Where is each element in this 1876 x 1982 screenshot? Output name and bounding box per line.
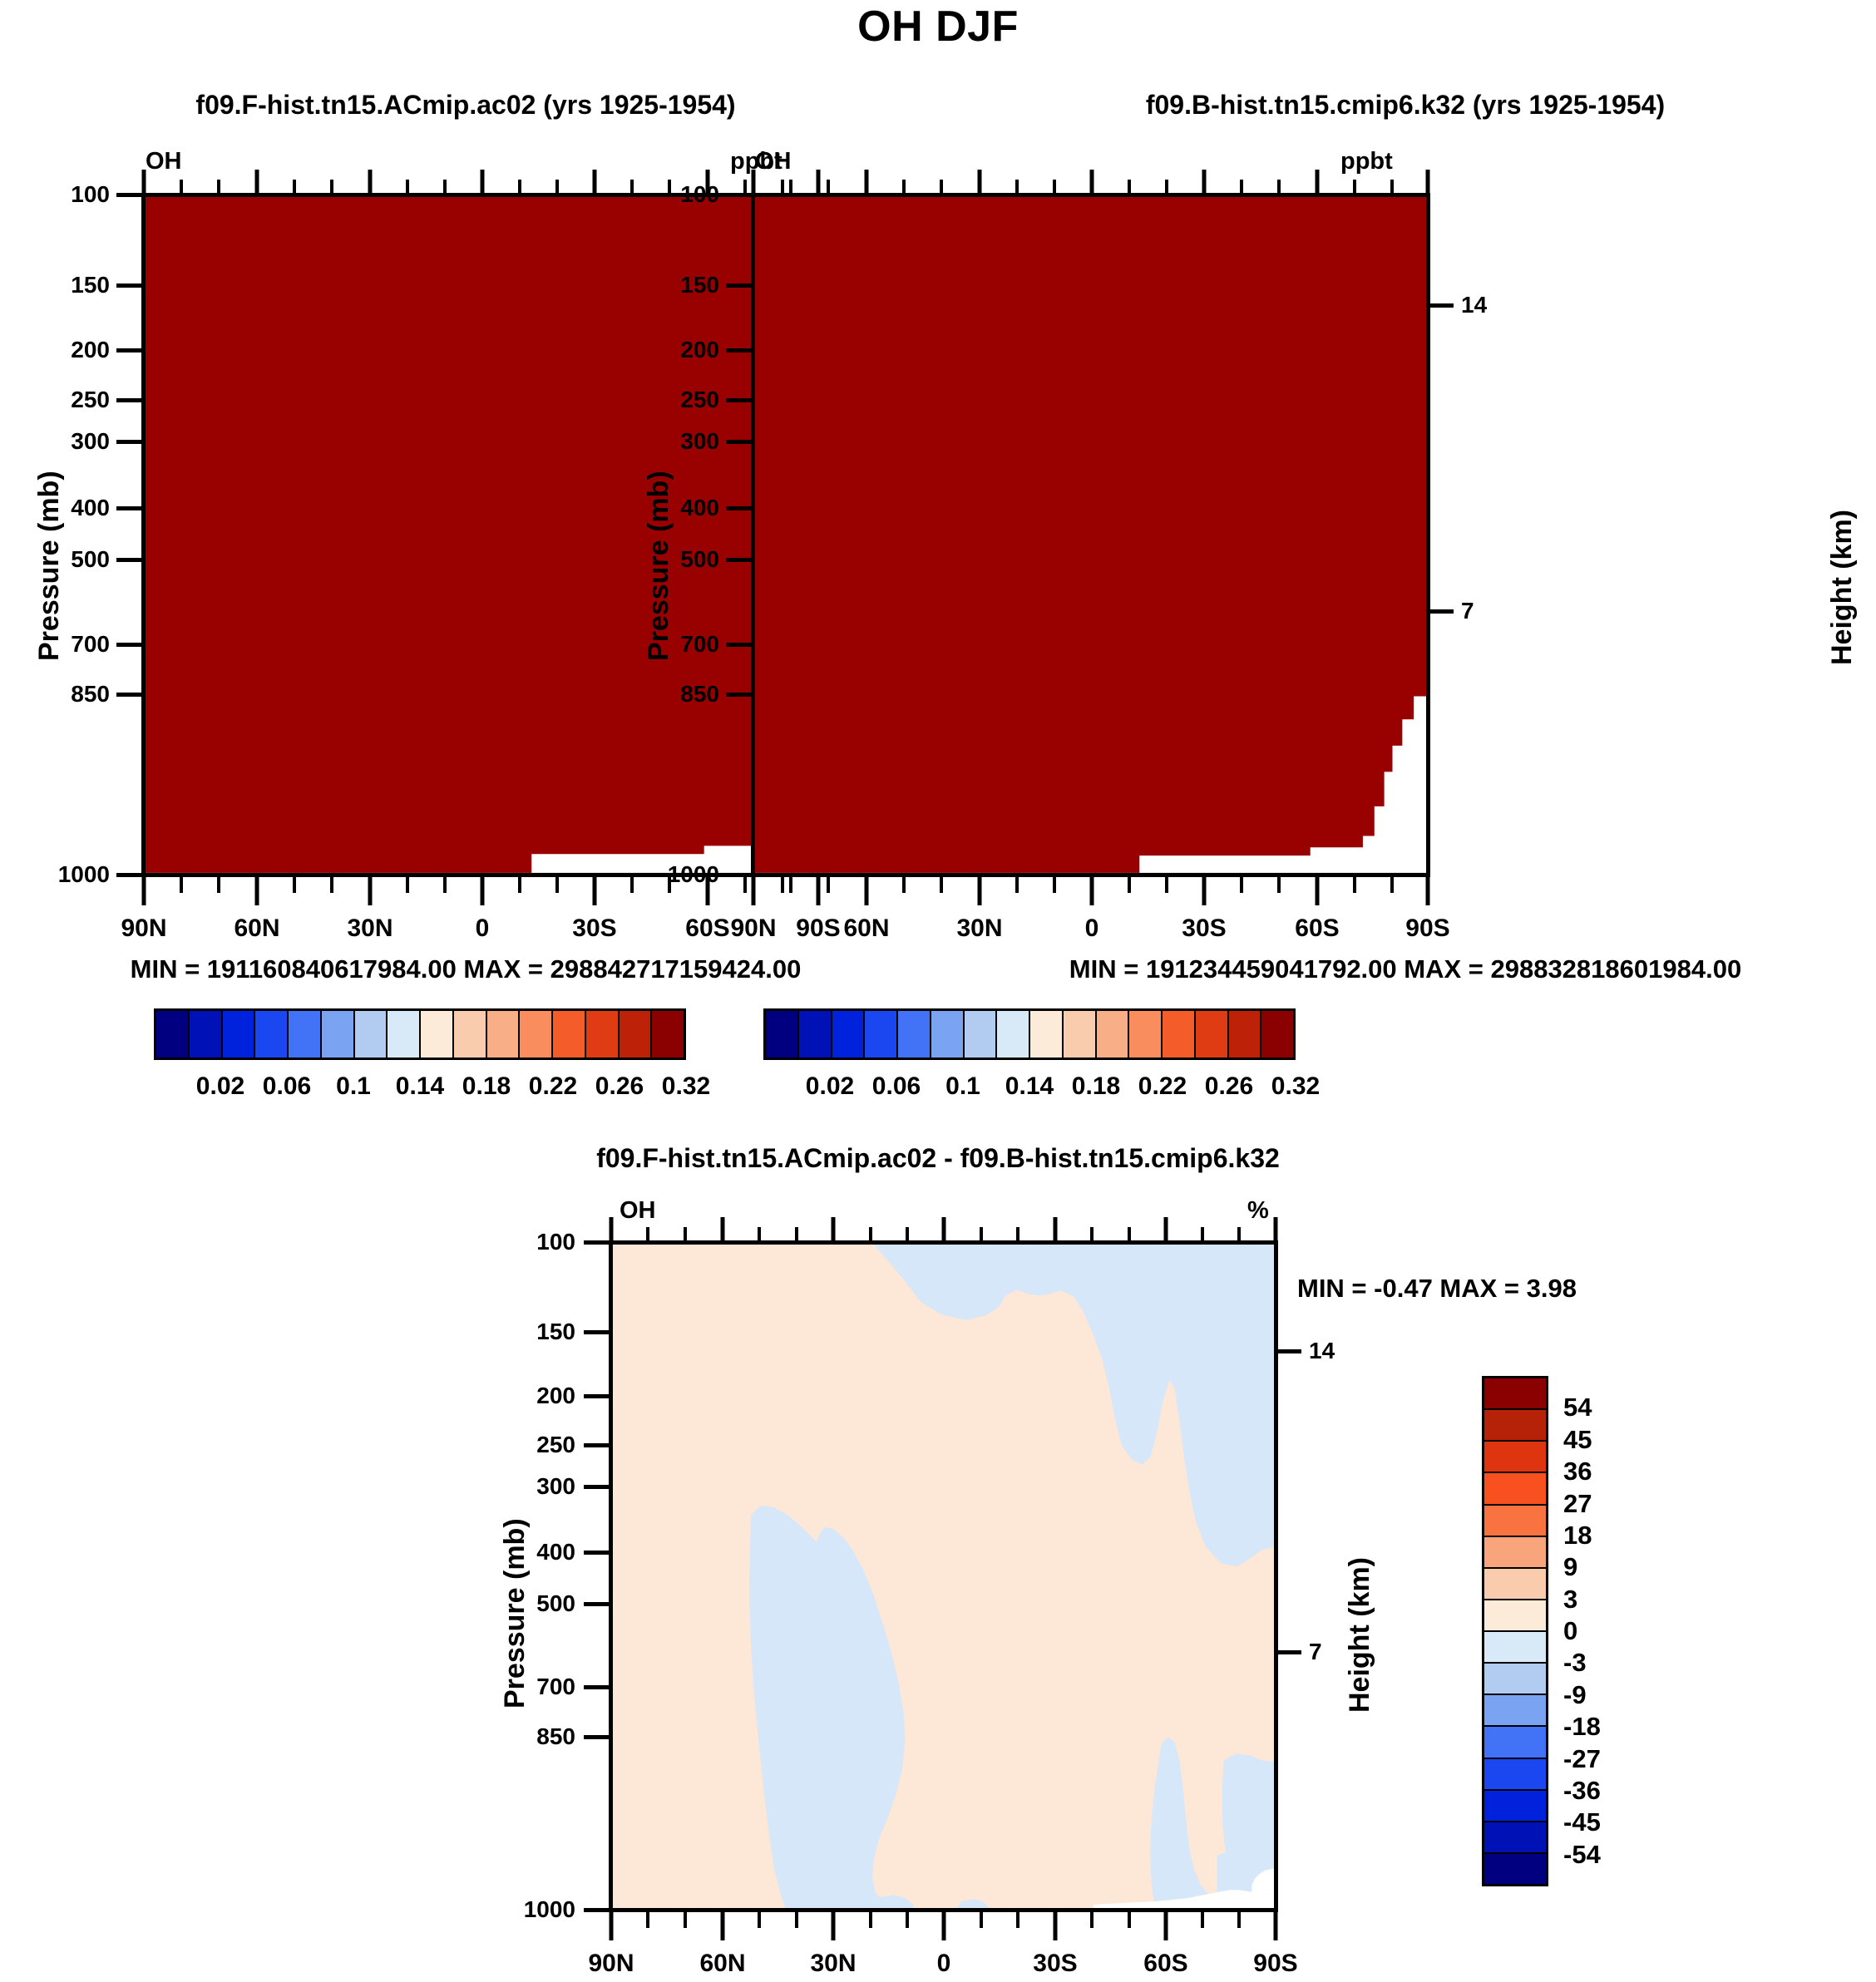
ytick-label: 250: [17, 387, 110, 413]
xtick-label: 30S: [1146, 915, 1262, 943]
xtick-label: 30N: [312, 915, 428, 943]
bottom-axis-ticks-difference: [609, 1911, 1278, 1945]
xtick-label: 0: [424, 915, 541, 943]
colorbar-labels-top-left: 0.020.060.10.140.180.220.260.32: [154, 1072, 686, 1107]
top-axis-ticks-top-right: [751, 163, 1430, 196]
colorbar-cell: [865, 1011, 898, 1058]
xtick-label: 0: [886, 1950, 1002, 1978]
colorbar-cell: [520, 1011, 553, 1058]
colorbar-cell: [1484, 1410, 1546, 1442]
colorbar-cell: [1484, 1569, 1546, 1600]
colorbar-tick-label: 0.32: [1271, 1072, 1320, 1101]
xtick-label: 60S: [1108, 1950, 1224, 1978]
colorbar-tick-label: 0.02: [806, 1072, 854, 1101]
colorbar-tick-label: 0.18: [1072, 1072, 1120, 1101]
colorbar-cell: [652, 1011, 684, 1058]
ytick-label: 1000: [472, 1896, 575, 1923]
colorbar-difference[interactable]: [1482, 1376, 1548, 1886]
y2axis-title-difference: Height (km): [1344, 1557, 1376, 1713]
colorbar-tick-label: 0.1: [336, 1072, 371, 1101]
colorbar-cell: [1484, 1791, 1546, 1822]
colorbar-top-right[interactable]: [763, 1008, 1296, 1060]
xtick-label: 60N: [664, 1950, 781, 1978]
colorbar-tick-label: 0.26: [1205, 1072, 1253, 1101]
colorbar-cell: [156, 1011, 190, 1058]
colorbar-cell: [799, 1011, 832, 1058]
colorbar-tick-label: -45: [1563, 1807, 1601, 1837]
colorbar-cell: [1097, 1011, 1130, 1058]
plot-area-top-right[interactable]: [751, 193, 1430, 877]
colorbar-tick-label: 0.22: [529, 1072, 577, 1101]
y2tick-label: 14: [1309, 1338, 1335, 1364]
colorbar-labels-top-right: 0.020.060.10.140.180.220.260.32: [763, 1072, 1296, 1107]
xtick-label: 30S: [536, 915, 653, 943]
colorbar-tick-label: 0.22: [1138, 1072, 1187, 1101]
ytick-label: 300: [17, 428, 110, 455]
ytick-label: 100: [17, 181, 110, 208]
heatmap-fill-difference: [613, 1245, 1274, 1908]
colorbar-tick-label: 0: [1563, 1616, 1577, 1646]
colorbar-cell: [223, 1011, 256, 1058]
colorbar-cell: [766, 1011, 799, 1058]
ytick-label: 150: [482, 1319, 575, 1345]
xtick-label: 90N: [86, 915, 202, 943]
ytick-label: 850: [626, 681, 719, 708]
colorbar-cell: [1484, 1506, 1546, 1537]
colorbar-tick-label: 0.14: [396, 1072, 444, 1101]
colorbar-tick-label: 0.32: [662, 1072, 710, 1101]
colorbar-tick-label: 36: [1563, 1457, 1592, 1486]
colorbar-cell: [997, 1011, 1030, 1058]
xtick-label: 0: [1034, 915, 1150, 943]
ytick-label: 250: [482, 1432, 575, 1458]
colorbar-cell: [1484, 1759, 1546, 1791]
colorbar-labels-difference: 5445362718930-3-9-18-27-36-45-54: [1563, 1376, 1680, 1886]
heatmap-fill-top-right: [755, 197, 1426, 873]
ytick-label: 1000: [616, 861, 719, 888]
colorbar-cell: [1484, 1442, 1546, 1473]
colorbar-cell: [1163, 1011, 1196, 1058]
colorbar-cell: [586, 1011, 620, 1058]
xtick-label: 60N: [808, 915, 925, 943]
colorbar-tick-label: 3: [1563, 1585, 1577, 1615]
panel-title-top-right: f09.B-hist.tn15.cmip6.k32 (yrs 1925-1954…: [965, 90, 1846, 121]
colorbar-cell: [1129, 1011, 1163, 1058]
colorbar-cell: [1030, 1011, 1064, 1058]
colorbar-cell: [965, 1011, 998, 1058]
colorbar-cell: [1484, 1537, 1546, 1569]
y2tick-label: 7: [1461, 598, 1474, 624]
colorbar-cell: [322, 1011, 355, 1058]
xtick-label: 30N: [775, 1950, 891, 1978]
colorbar-tick-label: -18: [1563, 1712, 1601, 1742]
ytick-label: 100: [626, 181, 719, 208]
colorbar-cell: [1229, 1011, 1262, 1058]
colorbar-tick-label: 0.14: [1005, 1072, 1054, 1101]
xtick-label: 60S: [1259, 915, 1375, 943]
colorbar-tick-label: 9: [1563, 1552, 1577, 1582]
colorbar-tick-label: 18: [1563, 1521, 1592, 1551]
colorbar-cell: [487, 1011, 521, 1058]
colorbar-cell: [1484, 1378, 1546, 1410]
colorbar-cell: [1196, 1011, 1229, 1058]
yaxis-title-difference: Pressure (mb): [499, 1518, 531, 1708]
colorbar-tick-label: -36: [1563, 1776, 1601, 1806]
colorbar-cell: [898, 1011, 931, 1058]
top-axis-ticks-difference: [609, 1212, 1278, 1244]
colorbar-cell: [1484, 1600, 1546, 1632]
xtick-label: 30N: [921, 915, 1038, 943]
bottom-axis-ticks-top-right: [751, 875, 1430, 910]
colorbar-tick-label: 27: [1563, 1489, 1592, 1519]
ytick-label: 300: [626, 428, 719, 455]
colorbar-cell: [1484, 1727, 1546, 1758]
colorbar-cell: [190, 1011, 223, 1058]
colorbar-tick-label: 0.02: [196, 1072, 244, 1101]
colorbar-cell: [388, 1011, 421, 1058]
colorbar-cell: [620, 1011, 653, 1058]
colorbar-cell: [931, 1011, 965, 1058]
colorbar-cell: [421, 1011, 454, 1058]
ytick-label: 150: [17, 272, 110, 298]
colorbar-cell: [289, 1011, 322, 1058]
colorbar-tick-label: 45: [1563, 1425, 1592, 1455]
ytick-label: 200: [626, 337, 719, 363]
figure-title: OH DJF: [0, 2, 1876, 52]
colorbar-cell: [255, 1011, 289, 1058]
ytick-label: 850: [482, 1723, 575, 1750]
colorbar-cell: [832, 1011, 866, 1058]
colorbar-cell: [1484, 1695, 1546, 1727]
colorbar-cell: [553, 1011, 586, 1058]
colorbar-tick-label: 0.26: [595, 1072, 644, 1101]
xtick-label: 90S: [1217, 1950, 1334, 1978]
minmax-text-top-right: MIN = 191234459041792.00 MAX = 298832818…: [965, 954, 1846, 984]
colorbar-tick-label: 0.06: [872, 1072, 921, 1101]
ytick-label: 1000: [7, 861, 110, 888]
colorbar-top-left[interactable]: [154, 1008, 686, 1060]
ytick-label: 300: [482, 1473, 575, 1500]
panel-title-top-left: f09.F-hist.tn15.ACmip.ac02 (yrs 1925-195…: [25, 90, 906, 121]
colorbar-cell: [1484, 1854, 1546, 1884]
colorbar-cell: [1484, 1632, 1546, 1664]
colorbar-tick-label: -54: [1563, 1840, 1601, 1870]
ytick-label: 200: [17, 337, 110, 363]
colorbar-tick-label: 0.1: [945, 1072, 980, 1101]
xtick-label: 60N: [199, 915, 315, 943]
colorbar-cell: [454, 1011, 487, 1058]
y2tick-label: 14: [1461, 292, 1487, 318]
colorbar-tick-label: -27: [1563, 1744, 1601, 1774]
panel-title-difference: f09.F-hist.tn15.ACmip.ac02 - f09.B-hist.…: [314, 1143, 1562, 1174]
ytick-label: 100: [482, 1229, 575, 1255]
colorbar-tick-label: -9: [1563, 1680, 1587, 1710]
colorbar-cell: [1484, 1822, 1546, 1854]
plot-area-difference[interactable]: [609, 1240, 1278, 1912]
xtick-label: 90N: [695, 915, 812, 943]
xtick-label: 90S: [1370, 915, 1486, 943]
y2tick-label: 7: [1309, 1639, 1322, 1665]
minmax-text-top-left: MIN = 191160840617984.00 MAX = 298842717…: [25, 954, 906, 984]
colorbar-cell: [1484, 1664, 1546, 1695]
yaxis-title-top-left: Pressure (mb): [33, 471, 66, 661]
colorbar-tick-label: 0.06: [263, 1072, 311, 1101]
colorbar-cell: [355, 1011, 388, 1058]
xtick-label: 90N: [553, 1950, 669, 1978]
yaxis-title-top-right: Pressure (mb): [643, 471, 675, 661]
ytick-label: 250: [626, 387, 719, 413]
xtick-label: 30S: [997, 1950, 1113, 1978]
colorbar-cell: [1064, 1011, 1097, 1058]
colorbar-cell: [1261, 1011, 1293, 1058]
colorbar-tick-label: 0.18: [462, 1072, 511, 1101]
minmax-text-difference: MIN = -0.47 MAX = 3.98: [1297, 1274, 1813, 1304]
colorbar-tick-label: 54: [1563, 1393, 1592, 1422]
ytick-label: 150: [626, 272, 719, 298]
ytick-label: 850: [17, 681, 110, 708]
colorbar-cell: [1484, 1473, 1546, 1505]
y2axis-title-top-right: Height (km): [1826, 510, 1859, 665]
colorbar-tick-label: -3: [1563, 1648, 1587, 1678]
ytick-label: 200: [482, 1383, 575, 1409]
